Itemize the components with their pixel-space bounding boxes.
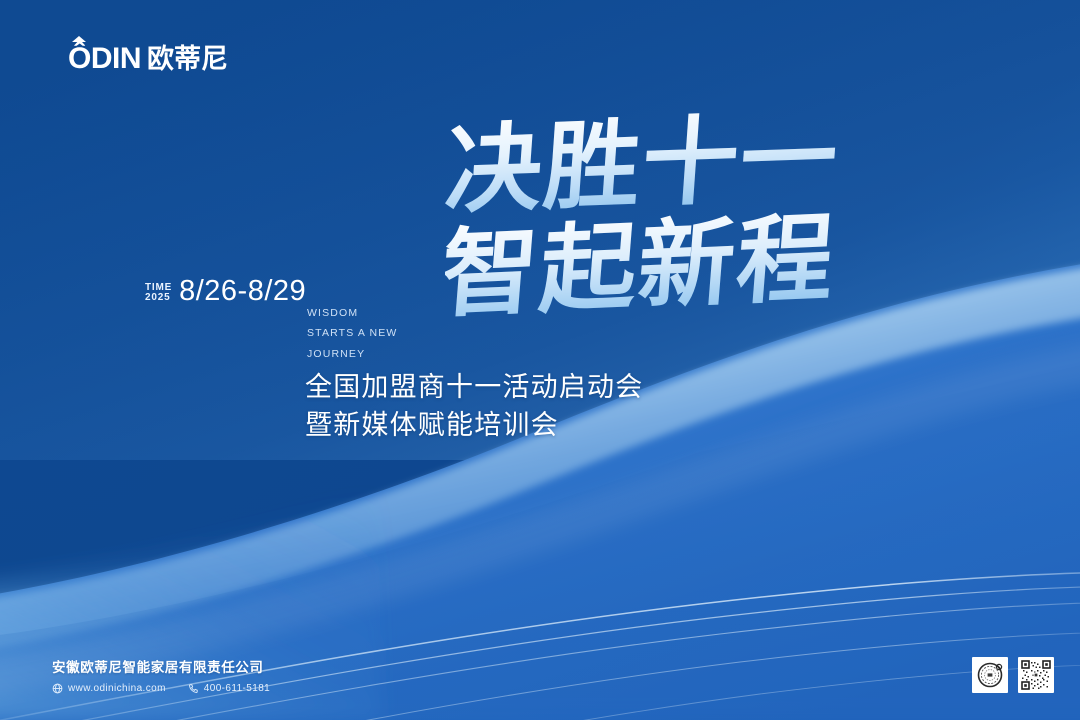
tagline-line-2: STARTS A NEW — [307, 323, 397, 343]
headline-calligraphy: 决胜十一 智起新程 — [445, 112, 915, 342]
contact-row: www.odinichina.com 400-611-5181 — [52, 683, 270, 694]
english-tagline: WISDOM STARTS A NEW JOURNEY — [307, 303, 397, 364]
subtitle-line-2: 暨新媒体赋能培训会 — [305, 406, 643, 444]
headline-line-2: 智起新程 — [445, 201, 840, 331]
footer-contact: 安徽欧蒂尼智能家居有限责任公司 www.odinichina.com — [52, 656, 270, 694]
logo-chinese: 欧蒂尼 — [147, 46, 228, 73]
logo-latin: ÔDIN — [68, 44, 141, 74]
phone-text: 400-611-5181 — [204, 683, 270, 694]
website-item[interactable]: www.odinichina.com — [52, 683, 166, 694]
event-poster: ÔDIN 欧蒂尼 决胜十一 智起新程 — [0, 0, 1080, 720]
date-range: 8/26-8/29 — [179, 277, 306, 306]
website-text: www.odinichina.com — [68, 683, 166, 694]
date-label: TIME 2025 — [145, 280, 172, 304]
globe-icon — [52, 683, 63, 694]
wechat-official-account-qr[interactable] — [972, 657, 1008, 693]
logo-o-circumflex: Ô — [68, 44, 91, 74]
phone-icon — [188, 683, 199, 694]
date-label-year: 2025 — [145, 293, 170, 304]
event-subtitle: 全国加盟商十一活动启动会 暨新媒体赋能培训会 — [305, 368, 643, 445]
background-artwork — [0, 0, 1080, 720]
company-name: 安徽欧蒂尼智能家居有限责任公司 — [52, 656, 270, 676]
brand-logo: ÔDIN 欧蒂尼 — [68, 44, 228, 74]
logo-latin-rest: DIN — [91, 42, 141, 75]
tagline-line-1: WISDOM — [307, 303, 397, 323]
event-date: TIME 2025 8/26-8/29 — [145, 277, 306, 306]
qr-code-group — [972, 657, 1054, 693]
subtitle-line-1: 全国加盟商十一活动启动会 — [305, 368, 643, 406]
wechat-mini-program-qr[interactable] — [1018, 657, 1054, 693]
phone-item[interactable]: 400-611-5181 — [188, 683, 270, 694]
tagline-line-3: JOURNEY — [307, 344, 397, 364]
